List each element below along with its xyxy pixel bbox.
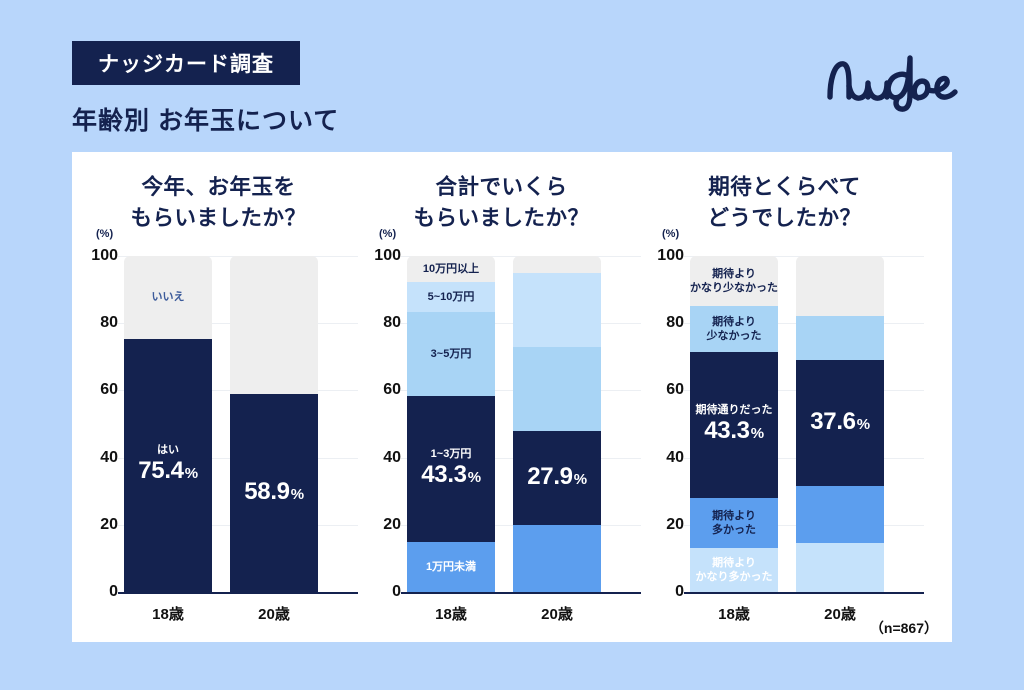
chart-panel-amount: 合計でいくら もらいましたか？ (%) 10080604020010万円以上5~…	[355, 152, 648, 642]
bar-segment[interactable]: 5~10万円	[407, 282, 495, 312]
stacked-bar[interactable]: 37.6%	[796, 256, 884, 592]
bar-segment[interactable]: 1万円未満	[407, 542, 495, 592]
y-axis-unit-2: (%)	[662, 228, 679, 240]
bar-segment[interactable]	[796, 316, 884, 359]
y-axis-tick-40: 40	[355, 449, 401, 467]
segment-label: 期待より	[712, 509, 756, 523]
x-axis-category-label: 20歳	[513, 603, 601, 624]
chart-panel-expectation: 期待とくらべて どうでしたか？ (%) 100806040200期待よりかなり少…	[638, 152, 931, 642]
segment-label: 期待より	[712, 315, 756, 329]
bar-segment[interactable]	[513, 273, 601, 347]
y-axis-tick-0: 0	[355, 583, 401, 601]
header-band: ナッジカード調査 年齢別 お年玉について	[0, 0, 1024, 152]
bar-segment[interactable]	[230, 256, 318, 394]
segment-value: 43.3%	[421, 461, 481, 491]
percent-sign: %	[574, 471, 587, 488]
survey-badge: ナッジカード調査	[72, 41, 300, 85]
x-axis-category-label: 18歳	[407, 603, 495, 624]
y-axis-tick-60: 60	[355, 381, 401, 399]
chart-title-1-line-2: もらいましたか？	[355, 203, 648, 234]
bar-segment[interactable]: はい75.4%	[124, 339, 212, 592]
bar-segment[interactable]	[796, 486, 884, 543]
chart-title-1-line-1: 合計でいくら	[355, 172, 648, 203]
percent-sign: %	[751, 425, 764, 442]
segment-label: 期待より	[712, 267, 756, 281]
y-axis-tick-80: 80	[355, 314, 401, 332]
segment-label: 5~10万円	[428, 290, 475, 304]
bar-segment[interactable]: 期待よりかなり多かった	[690, 548, 778, 592]
segment-label: 期待より	[712, 556, 756, 570]
y-axis-tick-80: 80	[638, 314, 684, 332]
chart-title-1: 合計でいくら もらいましたか？	[355, 172, 648, 234]
stacked-bar[interactable]: いいえはい75.4%	[124, 256, 212, 592]
chart-panel-received: 今年、お年玉を もらいましたか？ (%) 100806040200いいえはい75…	[72, 152, 365, 642]
segment-label: 多かった	[712, 523, 756, 537]
segment-label: 期待通りだった	[696, 403, 773, 417]
x-axis-line	[684, 592, 924, 594]
segment-label: かなり多かった	[696, 570, 773, 584]
y-axis-tick-100: 100	[638, 247, 684, 265]
percent-sign: %	[468, 469, 481, 486]
chart-title-0: 今年、お年玉を もらいましたか？	[72, 172, 365, 234]
y-axis-unit-0: (%)	[96, 228, 113, 240]
chart-title-2: 期待とくらべて どうでしたか？	[638, 172, 931, 234]
sample-size-note: （n=867）	[870, 618, 938, 638]
percent-sign: %	[857, 416, 870, 433]
y-axis-tick-80: 80	[72, 314, 118, 332]
bar-segment[interactable]	[796, 256, 884, 316]
bar-segment[interactable]: 58.9%	[230, 394, 318, 592]
segment-label: いいえ	[152, 290, 185, 304]
x-axis-line	[118, 592, 358, 594]
bar-segment[interactable]: いいえ	[124, 256, 212, 339]
segment-value: 75.4%	[138, 457, 198, 487]
x-axis-category-label: 20歳	[230, 603, 318, 624]
segment-value: 27.9%	[527, 463, 587, 493]
bar-segment[interactable]: 期待よりかなり少なかった	[690, 256, 778, 306]
y-axis-tick-100: 100	[72, 247, 118, 265]
bar-segment[interactable]: 1~3万円43.3%	[407, 396, 495, 541]
bar-segment[interactable]	[513, 347, 601, 431]
y-axis-tick-100: 100	[355, 247, 401, 265]
x-axis-category-label: 18歳	[690, 603, 778, 624]
bar-segment[interactable]: 期待通りだった43.3%	[690, 352, 778, 497]
x-axis-category-label: 18歳	[124, 603, 212, 624]
segment-label: はい	[157, 443, 179, 457]
segment-label: 1万円未満	[426, 560, 476, 574]
survey-badge-label: ナッジカード調査	[98, 48, 274, 78]
stacked-bar[interactable]: 10万円以上5~10万円3~5万円1~3万円43.3%1万円未満	[407, 256, 495, 592]
y-axis-tick-60: 60	[72, 381, 118, 399]
y-axis-tick-20: 20	[72, 516, 118, 534]
bar-segment[interactable]: 期待より少なかった	[690, 306, 778, 352]
stacked-bar[interactable]: 27.9%	[513, 256, 601, 592]
segment-value: 37.6%	[810, 408, 870, 438]
y-axis-tick-40: 40	[72, 449, 118, 467]
percent-sign: %	[291, 486, 304, 503]
bar-segment[interactable]	[513, 525, 601, 592]
chart-title-2-line-2: どうでしたか？	[638, 203, 931, 234]
stacked-bar[interactable]: 期待よりかなり少なかった期待より少なかった期待通りだった43.3%期待より多かっ…	[690, 256, 778, 592]
y-axis-tick-60: 60	[638, 381, 684, 399]
chart-title-0-line-2: もらいましたか？	[72, 203, 365, 234]
segment-label: 3~5万円	[431, 347, 472, 361]
y-axis-tick-40: 40	[638, 449, 684, 467]
bar-segment[interactable]	[796, 543, 884, 592]
y-axis-tick-0: 0	[72, 583, 118, 601]
segment-value: 43.3%	[704, 417, 764, 447]
bar-segment[interactable]: 27.9%	[513, 431, 601, 525]
segment-value: 58.9%	[244, 478, 304, 508]
chart-title-2-line-1: 期待とくらべて	[638, 172, 931, 203]
nudge-logo	[822, 50, 962, 112]
segment-label: 少なかった	[707, 329, 762, 343]
segment-label: 1~3万円	[431, 447, 472, 461]
y-axis-tick-0: 0	[638, 583, 684, 601]
bar-segment[interactable]	[513, 256, 601, 273]
x-axis-line	[401, 592, 641, 594]
charts-panel: 今年、お年玉を もらいましたか？ (%) 100806040200いいえはい75…	[72, 152, 952, 642]
y-axis-tick-20: 20	[355, 516, 401, 534]
page-title: 年齢別 お年玉について	[72, 101, 339, 137]
y-axis-tick-20: 20	[638, 516, 684, 534]
bar-segment[interactable]: 37.6%	[796, 360, 884, 486]
segment-label: かなり少なかった	[690, 281, 778, 295]
percent-sign: %	[185, 465, 198, 482]
bar-segment[interactable]: 期待より多かった	[690, 498, 778, 548]
bar-segment[interactable]: 3~5万円	[407, 312, 495, 396]
chart-title-0-line-1: 今年、お年玉を	[72, 172, 365, 203]
y-axis-unit-1: (%)	[379, 228, 396, 240]
bar-segment[interactable]: 10万円以上	[407, 256, 495, 282]
segment-label: 10万円以上	[423, 262, 479, 276]
stacked-bar[interactable]: 58.9%	[230, 256, 318, 592]
